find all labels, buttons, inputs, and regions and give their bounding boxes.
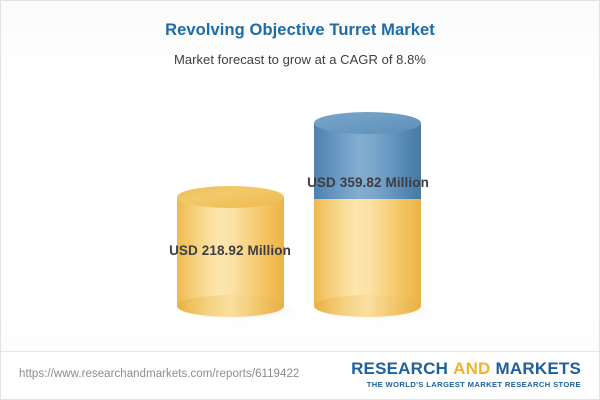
bar-2032 (314, 79, 421, 344)
chart-subtitle: Market forecast to grow at a CAGR of 8.8… (1, 52, 599, 67)
report-url-link[interactable]: https://www.researchandmarkets.com/repor… (19, 368, 299, 380)
logo-word-and: AND (453, 359, 490, 378)
bar-2026 (177, 79, 284, 344)
logo-word-research: RESEARCH (351, 359, 448, 378)
cylinder-2032 (314, 123, 421, 306)
segment-top-ellipse (314, 112, 421, 134)
research-and-markets-logo[interactable]: RESEARCHANDMARKETS THE WORLD'S LARGEST M… (351, 360, 581, 389)
chart-plot-area: USD 218.92 Million USD 359.82 Million (1, 79, 600, 344)
segment-bottom-ellipse (177, 295, 284, 317)
page-title: Revolving Objective Turret Market (1, 21, 599, 40)
bar-value-label-2032: USD 359.82 Million (248, 175, 488, 190)
market-forecast-chart-card: Revolving Objective Turret Market Market… (0, 0, 600, 400)
segment-bottom-ellipse (314, 295, 421, 317)
logo-word-markets: MARKETS (496, 359, 581, 378)
footer: https://www.researchandmarkets.com/repor… (1, 351, 599, 399)
logo-tagline: THE WORLD'S LARGEST MARKET RESEARCH STOR… (351, 380, 581, 389)
bar-value-label-2026: USD 218.92 Million (110, 243, 350, 258)
logo-wordmark: RESEARCHANDMARKETS (351, 360, 581, 378)
chart-header: Revolving Objective Turret Market Market… (1, 21, 599, 67)
